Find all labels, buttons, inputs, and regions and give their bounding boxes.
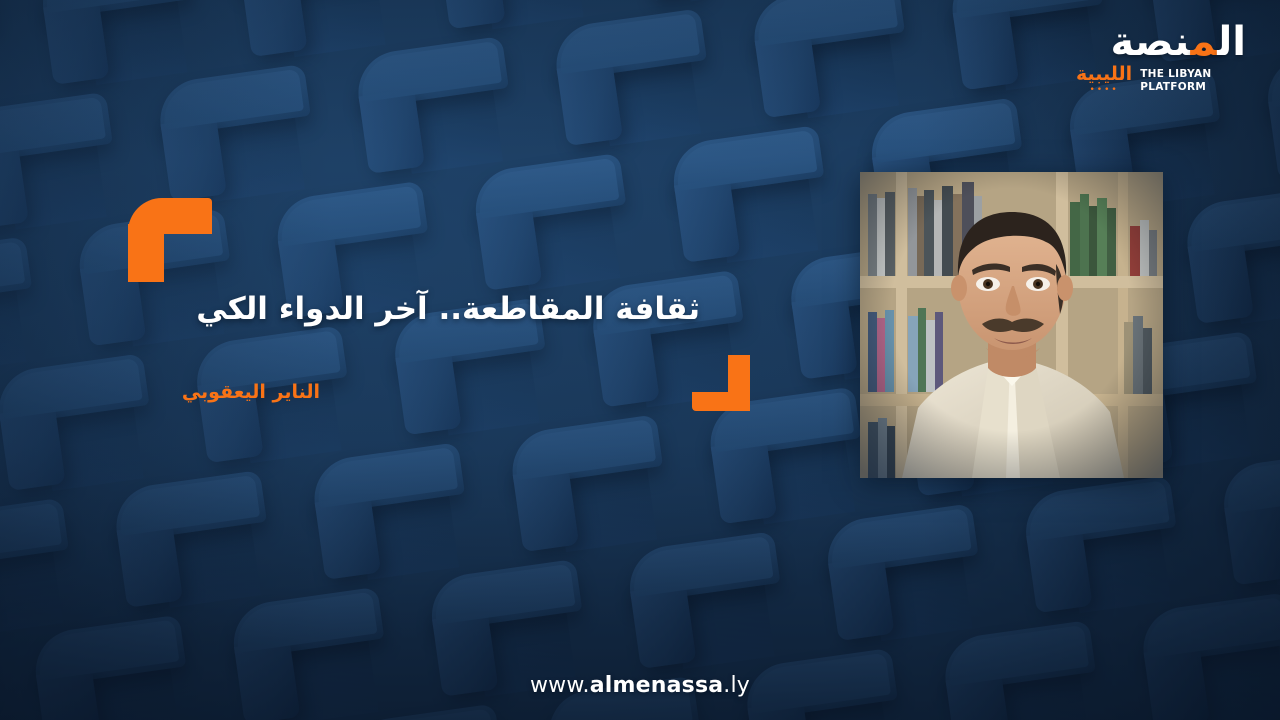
- quote-close-arm-horizontal: [692, 392, 750, 411]
- url-domain-name: almenassa: [590, 673, 724, 698]
- page-title: ثقافة المقاطعة.. آخر الدواء الكي: [60, 289, 700, 331]
- quote-open-icon: [128, 198, 212, 282]
- website-url[interactable]: www.almenassa.ly: [0, 673, 1280, 698]
- author-name: الناير اليعقوبي: [0, 381, 320, 404]
- url-tld: .ly: [723, 673, 750, 698]
- url-prefix: www.: [530, 673, 590, 698]
- logo-accent-letter: م: [1190, 19, 1217, 65]
- social-card-canvas: المنصة THE LIBYAN PLATFORM الليبية •••• …: [0, 0, 1280, 720]
- quote-close-icon: [692, 355, 750, 411]
- author-portrait: [860, 172, 1163, 478]
- brand-logo[interactable]: المنصة THE LIBYAN PLATFORM الليبية ••••: [1076, 22, 1246, 104]
- logo-arabic-subtitle: الليبية: [1076, 63, 1132, 85]
- logo-arabic-subtitle-wrap: الليبية ••••: [1076, 65, 1132, 95]
- logo-dots-ornament: ••••: [1076, 86, 1132, 95]
- quote-open-arm-vertical: [128, 224, 164, 282]
- logo-arabic-title: المنصة: [1076, 22, 1246, 62]
- logo-english-title: THE LIBYAN PLATFORM: [1140, 68, 1211, 95]
- logo-subtitle-row: THE LIBYAN PLATFORM الليبية ••••: [1076, 65, 1246, 95]
- portrait-illustration: [860, 172, 1163, 478]
